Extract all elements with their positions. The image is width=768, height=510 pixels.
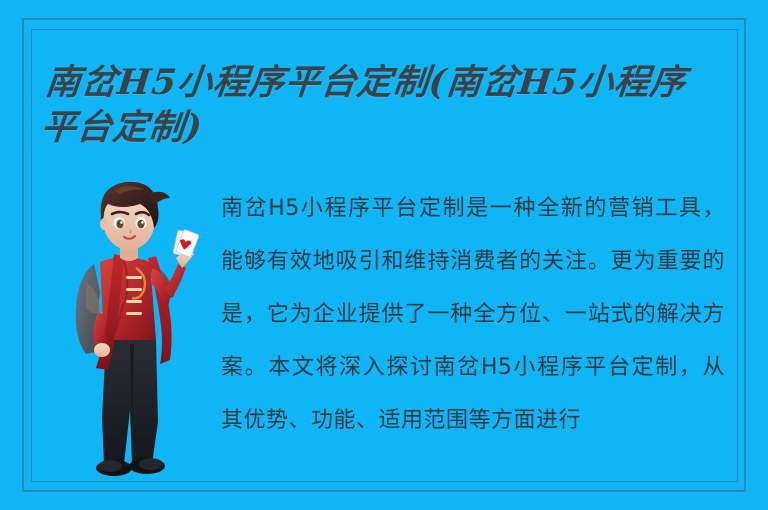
character-illustration [52,172,212,492]
playing-cards [173,228,200,258]
character-hand-left [94,343,110,357]
poster-canvas: 南岔H5小程序平台定制(南岔H5小程序平台定制) [0,0,768,510]
body-paragraph: 南岔H5小程序平台定制是一种全新的营销工具，能够有效地吸引和维持消费者的关注。更… [221,182,725,492]
page-title: 南岔H5小程序平台定制(南岔H5小程序平台定制) [39,60,724,150]
